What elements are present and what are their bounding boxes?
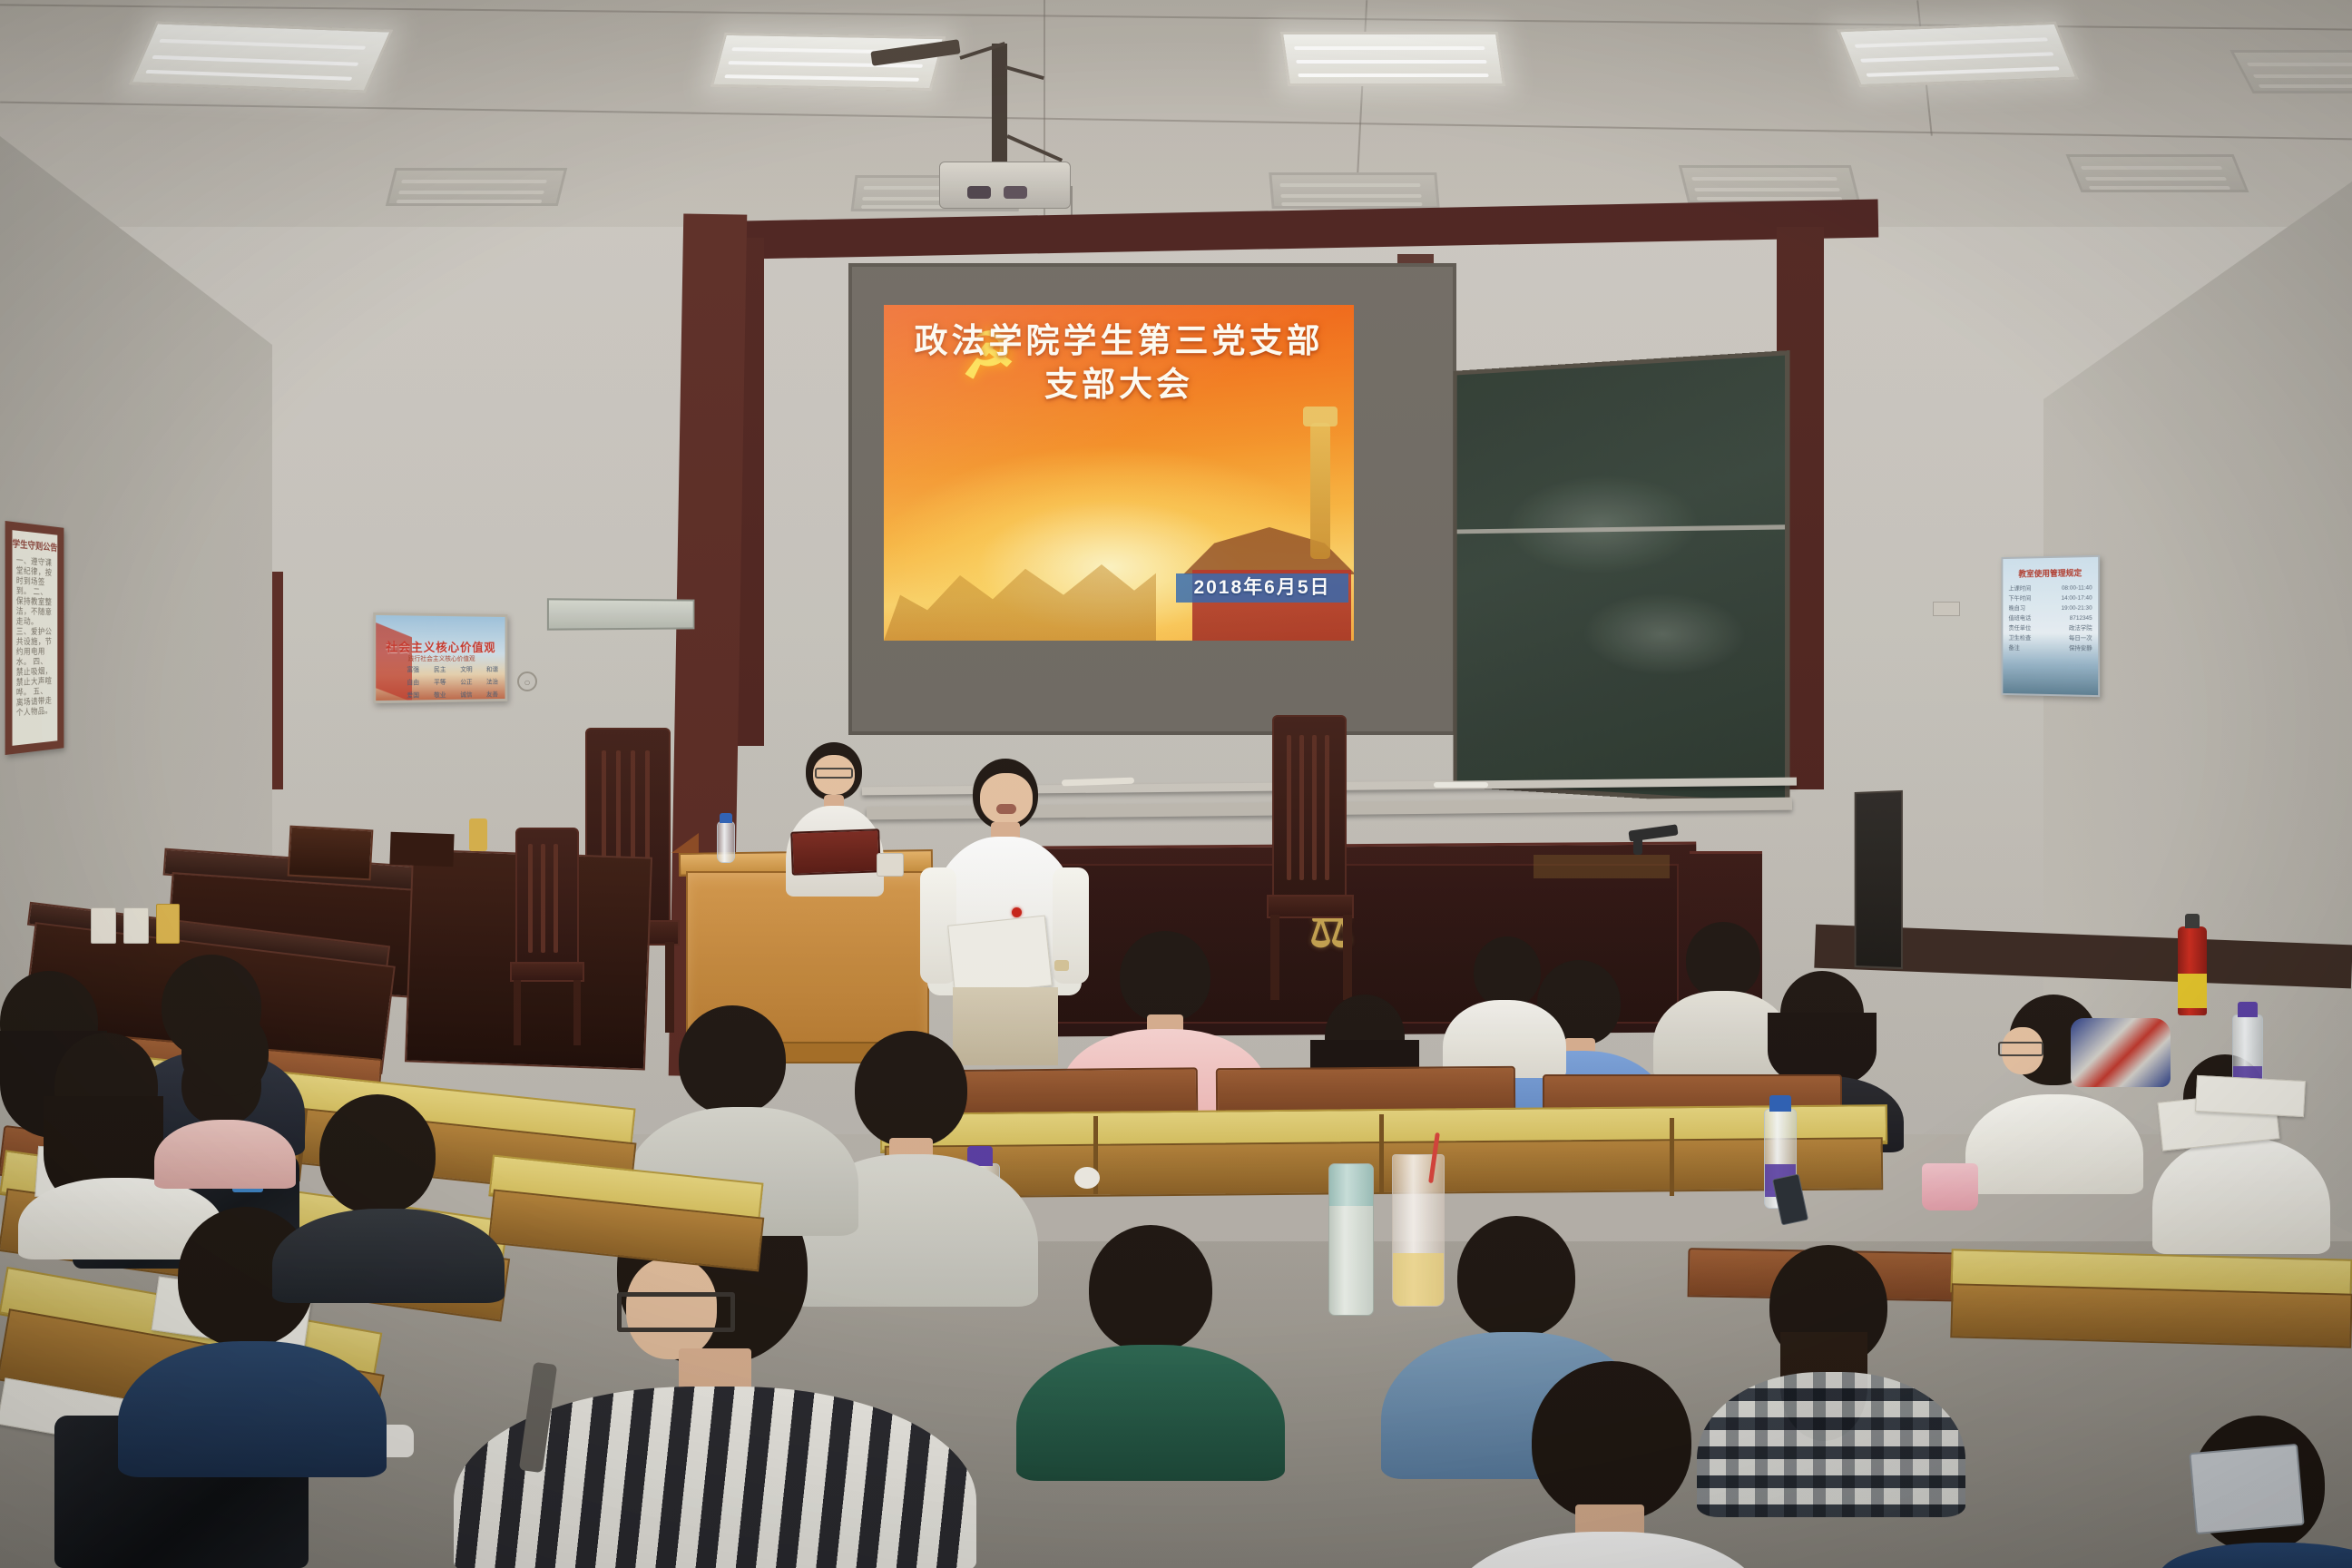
wall-window-strip (547, 598, 695, 630)
value-item: 和谐 (479, 665, 505, 674)
student-green-shirt (1016, 1225, 1289, 1479)
core-values-title: 社会主义核心价值观 (376, 637, 505, 655)
water-bottle-lectern (717, 821, 735, 863)
value-item: 平等 (426, 678, 453, 687)
value-item: 友善 (479, 690, 505, 699)
fire-extinguisher-icon (2178, 926, 2207, 1015)
core-values-grid: 富强 民主 文明 和谐 自由 平等 公正 法治 爱国 敬业 诚信 友善 (399, 665, 505, 701)
projector-icon (939, 162, 1071, 209)
value-item: 富强 (399, 665, 426, 674)
tablet-device[interactable] (2189, 1444, 2304, 1534)
projector-mount-pole (992, 44, 1007, 163)
value-item: 诚信 (453, 691, 479, 700)
desk-front-panel (1950, 1283, 2352, 1348)
chalk-stick (1434, 782, 1488, 788)
value-item: 爱国 (399, 691, 426, 700)
slide-date-badge: 2018年6月5日 (1176, 573, 1348, 603)
bench-name-plate (1534, 855, 1670, 878)
cup-on-table-left (91, 907, 116, 944)
value-item: 公正 (453, 678, 479, 687)
wall-notice-body: 一、遵守课堂纪律，按时到场签到。 二、保持教室整洁，不随意走动。 三、爱护公共设… (13, 550, 58, 725)
desk-box-left (288, 826, 374, 881)
core-values-poster: 社会主义核心价值观 践行社会主义核心价值观 富强 民主 文明 和谐 自由 平等 … (373, 612, 507, 703)
laptop[interactable] (790, 828, 881, 875)
student-center-grey-rear (145, 1007, 309, 1152)
wall-notice-frame: 学生守则公告 一、遵守课堂纪律，按时到场签到。 二、保持教室整洁，不随意走动。 … (5, 521, 64, 755)
ceiling-light (1679, 165, 1860, 203)
value-item: 自由 (399, 678, 426, 687)
value-item: 敬业 (426, 691, 453, 700)
core-values-subtitle: 践行社会主义核心价值观 (376, 654, 505, 663)
student-white-far (1436, 936, 1572, 1073)
schedule-poster-title: 教室使用管理规定 (2003, 566, 2098, 580)
desk-object-left (389, 832, 454, 867)
juice-box-left (156, 904, 180, 944)
thermos-bottle (1328, 1163, 1374, 1316)
ceiling-light (386, 168, 567, 206)
microphone-stand (1633, 835, 1642, 855)
slide-title-line1: 政法学院学生第三党支部 (884, 321, 1354, 361)
classroom-photo: ☭ 政法学院学生第三党支部 支部大会 2018年6月5日 学生守则公告 一、遵守… (0, 0, 2352, 1568)
chalkboard (1453, 350, 1789, 808)
wall-speaker (1855, 790, 1903, 969)
glasses-icon (617, 1292, 735, 1332)
tissue-ball (1074, 1167, 1100, 1189)
glasses-icon (815, 768, 853, 779)
value-item: 法治 (479, 678, 505, 687)
monument-column (1310, 423, 1330, 559)
wall-notice-heading: 学生守则公告 (13, 530, 58, 554)
student-white-tank-front (1423, 1361, 1786, 1568)
ceiling-light (1837, 22, 2079, 88)
door-frame-left (272, 572, 283, 789)
ceiling-light (2066, 154, 2249, 192)
mouth (996, 804, 1016, 814)
slide-title-line2: 支部大会 (884, 365, 1354, 405)
glasses-icon (1998, 1042, 2043, 1056)
high-back-chair-center (1263, 715, 1358, 1005)
projection-screen: ☭ 政法学院学生第三党支部 支部大会 2018年6月5日 (848, 263, 1456, 735)
ceiling-light (710, 33, 946, 91)
cup-on-table-left-2 (123, 907, 149, 944)
ceiling-light (1280, 32, 1505, 86)
ceiling-light (129, 21, 394, 93)
high-back-chair-far-left (508, 828, 590, 1054)
wall-plate (1933, 602, 1960, 616)
value-item: 文明 (453, 665, 479, 674)
speech-paper (947, 916, 1053, 996)
schedule-poster-rows: 上课时间08:00-11:40 下午时间14:00-17:40 晚自习19:00… (2008, 583, 2092, 653)
ceiling-light (1269, 172, 1439, 209)
mouse[interactable] (877, 853, 904, 877)
projected-slide: ☭ 政法学院学生第三党支部 支部大会 2018年6月5日 (884, 305, 1354, 641)
party-badge (1012, 907, 1022, 917)
wall-clock-icon: ○ (517, 671, 537, 691)
paper-on-desk (2195, 1075, 2306, 1117)
bottle-yellow-left (469, 818, 487, 851)
value-item: 民主 (426, 665, 453, 674)
pink-cup (1922, 1163, 1978, 1210)
schedule-poster: 教室使用管理规定 上课时间08:00-11:40 下午时间14:00-17:40… (2001, 555, 2100, 697)
